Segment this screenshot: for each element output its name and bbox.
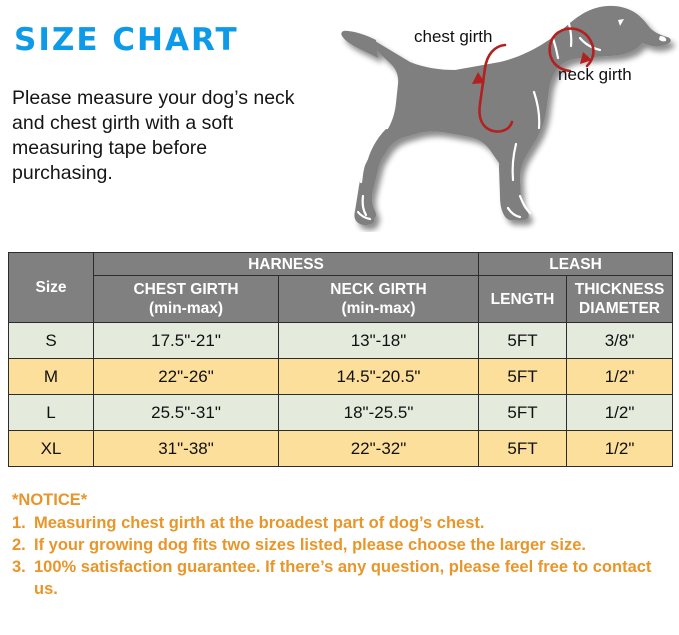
size-chart-table: Size HARNESS LEASH CHEST GIRTH (min-max)… <box>8 252 673 467</box>
header-leash-length: LENGTH <box>479 276 567 323</box>
cell-size: S <box>9 323 94 359</box>
notice-block: *NOTICE* 1. Measuring chest girth at the… <box>12 489 672 600</box>
header-chest-girth-line2: (min-max) <box>94 299 278 318</box>
cell-chest-girth: 25.5"-31" <box>94 395 279 431</box>
header-chest-girth: CHEST GIRTH (min-max) <box>94 276 279 323</box>
notice-title: *NOTICE* <box>12 489 672 511</box>
header-harness-group: HARNESS <box>94 253 479 276</box>
notice-item: 3. 100% satisfaction guarantee. If there… <box>12 556 672 600</box>
table-header-sub-row: CHEST GIRTH (min-max) NECK GIRTH (min-ma… <box>9 276 673 323</box>
table-body: S 17.5"-21" 13"-18" 5FT 3/8" M 22"-26" 1… <box>9 323 673 467</box>
notice-item-number: 3. <box>12 556 34 578</box>
table-row: XL 31"-38" 22"-32" 5FT 1/2" <box>9 431 673 467</box>
table-row: L 25.5"-31" 18"-25.5" 5FT 1/2" <box>9 395 673 431</box>
header-neck-girth-line1: NECK GIRTH <box>330 281 426 298</box>
cell-neck-girth: 14.5"-20.5" <box>279 359 479 395</box>
cell-neck-girth: 18"-25.5" <box>279 395 479 431</box>
notice-item-text: 100% satisfaction guarantee. If there’s … <box>34 556 672 600</box>
cell-leash-length: 5FT <box>479 395 567 431</box>
cell-chest-girth: 17.5"-21" <box>94 323 279 359</box>
dog-illustration: chest girth neck girth <box>330 0 679 232</box>
notice-item: 1. Measuring chest girth at the broadest… <box>12 512 672 534</box>
cell-size: L <box>9 395 94 431</box>
cell-size: XL <box>9 431 94 467</box>
header-chest-girth-line1: CHEST GIRTH <box>133 281 238 298</box>
cell-leash-length: 5FT <box>479 431 567 467</box>
neck-girth-label: neck girth <box>558 65 632 85</box>
notice-item-number: 2. <box>12 534 34 556</box>
page-title: SIZE CHART <box>14 22 239 58</box>
table-header: Size HARNESS LEASH CHEST GIRTH (min-max)… <box>9 253 673 323</box>
header-size: Size <box>9 253 94 323</box>
header-leash-group: LEASH <box>479 253 673 276</box>
notice-item-number: 1. <box>12 512 34 534</box>
cell-size: M <box>9 359 94 395</box>
header-neck-girth: NECK GIRTH (min-max) <box>279 276 479 323</box>
table-row: S 17.5"-21" 13"-18" 5FT 3/8" <box>9 323 673 359</box>
cell-neck-girth: 22"-32" <box>279 431 479 467</box>
header-thickness-line2: DIAMETER <box>567 299 672 318</box>
cell-chest-girth: 22"-26" <box>94 359 279 395</box>
header-thickness-line1: THICKNESS <box>575 281 665 298</box>
cell-leash-thickness: 3/8" <box>567 323 673 359</box>
cell-leash-thickness: 1/2" <box>567 359 673 395</box>
chest-girth-label: chest girth <box>414 27 492 47</box>
notice-item-text: Measuring chest girth at the broadest pa… <box>34 512 672 534</box>
table-row: M 22"-26" 14.5"-20.5" 5FT 1/2" <box>9 359 673 395</box>
header-neck-girth-line2: (min-max) <box>279 299 478 318</box>
header-leash-thickness: THICKNESS DIAMETER <box>567 276 673 323</box>
cell-neck-girth: 13"-18" <box>279 323 479 359</box>
cell-leash-length: 5FT <box>479 323 567 359</box>
cell-leash-thickness: 1/2" <box>567 431 673 467</box>
cell-leash-thickness: 1/2" <box>567 395 673 431</box>
dog-silhouette-icon <box>330 0 679 232</box>
cell-leash-length: 5FT <box>479 359 567 395</box>
table-header-group-row: Size HARNESS LEASH <box>9 253 673 276</box>
notice-item-text: If your growing dog fits two sizes liste… <box>34 534 672 556</box>
intro-paragraph: Please measure your dog’s neck and chest… <box>12 86 307 186</box>
cell-chest-girth: 31"-38" <box>94 431 279 467</box>
notice-item: 2. If your growing dog fits two sizes li… <box>12 534 672 556</box>
